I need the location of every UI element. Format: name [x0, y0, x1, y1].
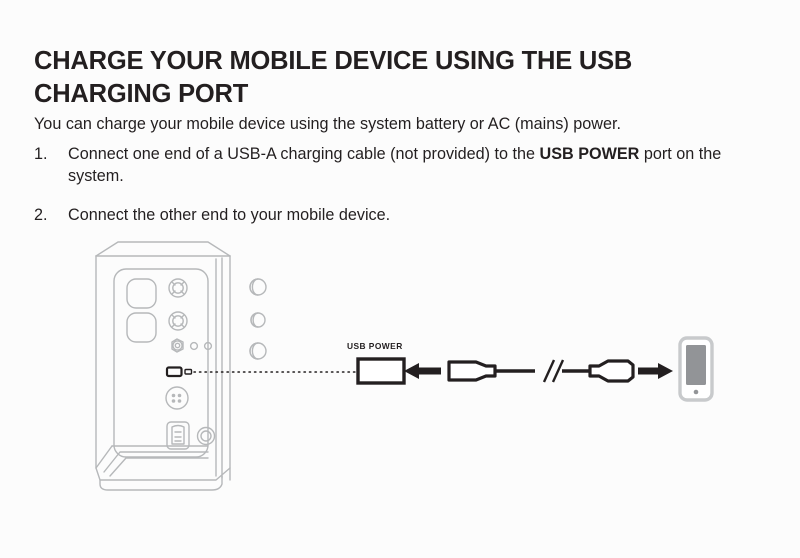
page-title: CHARGE YOUR MOBILE DEVICE USING THE USB … — [34, 45, 734, 110]
jack-right-2 — [251, 313, 265, 327]
speaker-base-layer-2 — [110, 458, 208, 476]
charging-diagram — [0, 232, 800, 522]
speaker-top-bevel — [96, 242, 230, 256]
usb-port-callout — [358, 359, 404, 383]
step-text-before: Connect the other end to your mobile dev… — [68, 206, 390, 224]
step-number: 1. — [34, 143, 68, 188]
list-item: 1. Connect one end of a USB-A charging c… — [34, 143, 746, 188]
instruction-steps: 1. Connect one end of a USB-A charging c… — [34, 143, 746, 242]
xlr-connector-lower — [169, 312, 187, 330]
list-item: 2. Connect the other end to your mobile … — [34, 204, 746, 226]
speaker-illustration — [96, 242, 266, 490]
multi-pin-connector — [166, 387, 188, 409]
cable-break-marker — [544, 360, 563, 382]
step-number: 2. — [34, 204, 68, 226]
rounded-button-upper — [127, 279, 156, 308]
step-text-before: Connect one end of a USB-A charging cabl… — [68, 145, 540, 163]
micro-usb-plug — [590, 361, 633, 381]
hex-nut-connector — [172, 339, 183, 352]
speaker-panel-recess — [114, 269, 208, 457]
diagram-svg — [0, 232, 800, 522]
step-emphasis: USB POWER — [540, 145, 640, 163]
arrow-left-icon — [404, 363, 441, 379]
xlr-connector-upper — [169, 279, 187, 297]
usb-power-callout-label: USB POWER — [347, 341, 403, 351]
speaker-foot — [100, 476, 222, 490]
jack-right-3 — [250, 343, 266, 359]
usb-power-port — [167, 368, 192, 377]
indicator-led-1 — [191, 343, 198, 350]
mobile-phone-illustration — [680, 338, 712, 400]
document-page: CHARGE YOUR MOBILE DEVICE USING THE USB … — [0, 0, 800, 558]
intro-paragraph: You can charge your mobile device using … — [34, 114, 750, 136]
phone-home-button — [694, 390, 699, 395]
round-jack-bottom — [198, 428, 215, 445]
phone-screen — [686, 345, 706, 385]
step-text: Connect one end of a USB-A charging cabl… — [68, 143, 746, 188]
rounded-button-lower — [127, 313, 156, 342]
usb-a-plug — [449, 362, 495, 380]
jack-right-1 — [250, 279, 266, 295]
step-text: Connect the other end to your mobile dev… — [68, 204, 746, 226]
arrow-right-icon — [638, 363, 673, 379]
iec-power-inlet — [167, 422, 189, 449]
